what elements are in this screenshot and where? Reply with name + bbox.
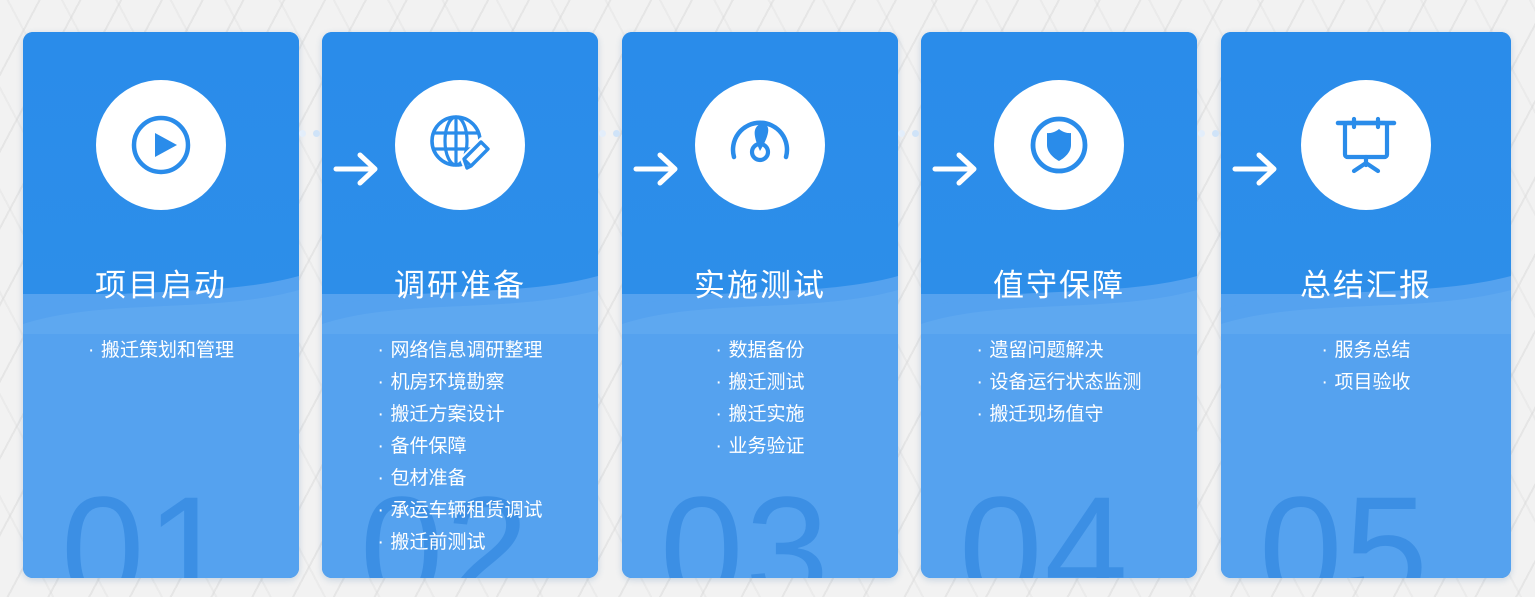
gauge-icon [695, 80, 825, 210]
arrow-right-icon [1229, 145, 1283, 193]
step-item-list: ·网络信息调研整理 ·机房环境勘察 ·搬迁方案设计 ·备件保障 ·包材准备 ·承… [322, 335, 598, 559]
step-item-list: ·服务总结 ·项目验收 [1221, 335, 1511, 399]
connector-dot [313, 130, 320, 137]
bullet-glyph: · [715, 335, 728, 367]
step-number-watermark: 03 [660, 474, 831, 578]
list-item-label: 网络信息调研整理 [390, 340, 542, 361]
list-item: ·搬迁实施 [715, 399, 804, 431]
list-item: ·项目验收 [1321, 367, 1410, 399]
connector-dot [1212, 130, 1219, 137]
step-title: 调研准备 [322, 260, 598, 305]
connector-dot [912, 130, 919, 137]
list-item: ·搬迁前测试 [377, 527, 542, 559]
connector-dots-1-2 [299, 130, 320, 137]
bullet-glyph: · [1321, 367, 1334, 399]
list-item-label: 搬迁测试 [728, 372, 804, 393]
arrow-right-icon [330, 145, 384, 193]
process-step-card-4[interactable]: 04 值守保障 ·遗留问题解决 ·设备运行状态监测 ·搬迁现场值守 [921, 32, 1197, 578]
process-step-card-1[interactable]: 01 项目启动 ·搬迁策划和管理 [23, 32, 299, 578]
bullet-glyph: · [377, 399, 390, 431]
list-item-label: 项目验收 [1334, 372, 1410, 393]
connector-dot [299, 130, 306, 137]
list-item-label: 遗留问题解决 [989, 340, 1103, 361]
connector-dot [613, 130, 620, 137]
step-title: 值守保障 [921, 260, 1197, 305]
bullet-glyph: · [377, 367, 390, 399]
list-item-label: 搬迁前测试 [390, 532, 485, 553]
connector-dot [898, 130, 905, 137]
bullet-glyph: · [715, 431, 728, 463]
list-item: ·搬迁方案设计 [377, 399, 542, 431]
step-title: 总结汇报 [1221, 260, 1511, 305]
list-item-label: 设备运行状态监测 [989, 372, 1141, 393]
bullet-glyph: · [377, 431, 390, 463]
step-item-list: ·搬迁策划和管理 [23, 335, 299, 367]
step-number-watermark: 04 [959, 474, 1130, 578]
connector-dots-3-4 [898, 130, 919, 137]
list-item: ·搬迁测试 [715, 367, 804, 399]
play-button-icon [96, 80, 226, 210]
step-item-list: ·数据备份 ·搬迁测试 ·搬迁实施 ·业务验证 [622, 335, 898, 463]
list-item: ·网络信息调研整理 [377, 335, 542, 367]
list-item-label: 搬迁方案设计 [390, 404, 504, 425]
list-item: ·业务验证 [715, 431, 804, 463]
list-item: ·服务总结 [1321, 335, 1410, 367]
process-step-card-3[interactable]: 03 实施测试 ·数据备份 ·搬迁测试 ·搬迁实施 ·业务验证 [622, 32, 898, 578]
list-item-label: 搬迁现场值守 [989, 404, 1103, 425]
list-item-label: 服务总结 [1334, 340, 1410, 361]
bullet-glyph: · [377, 335, 390, 367]
list-item: ·备件保障 [377, 431, 542, 463]
bullet-glyph: · [715, 399, 728, 431]
arrow-right-icon [929, 145, 983, 193]
list-item: ·遗留问题解决 [976, 335, 1141, 367]
shield-icon [994, 80, 1124, 210]
bullet-glyph: · [976, 399, 989, 431]
list-item-label: 机房环境勘察 [390, 372, 504, 393]
connector-dot [599, 130, 606, 137]
list-item-label: 搬迁实施 [728, 404, 804, 425]
bullet-glyph: · [88, 335, 101, 367]
list-item-label: 搬迁策划和管理 [101, 340, 234, 361]
bullet-glyph: · [715, 367, 728, 399]
process-flow-diagram: 01 项目启动 ·搬迁策划和管理 02 [0, 0, 1535, 597]
list-item: ·机房环境勘察 [377, 367, 542, 399]
process-step-card-5[interactable]: 05 总结汇报 ·服务总结 ·项目验收 [1221, 32, 1511, 578]
list-item-label: 承运车辆租赁调试 [390, 500, 542, 521]
list-item: ·设备运行状态监测 [976, 367, 1141, 399]
list-item: ·搬迁现场值守 [976, 399, 1141, 431]
connector-dots-2-3 [599, 130, 620, 137]
list-item: ·包材准备 [377, 463, 542, 495]
step-number-watermark: 05 [1259, 474, 1430, 578]
list-item: ·承运车辆租赁调试 [377, 495, 542, 527]
arrow-right-icon [630, 145, 684, 193]
list-item-label: 业务验证 [728, 436, 804, 457]
connector-dot [1198, 130, 1205, 137]
list-item: ·数据备份 [715, 335, 804, 367]
step-item-list: ·遗留问题解决 ·设备运行状态监测 ·搬迁现场值守 [921, 335, 1197, 431]
globe-pencil-icon [395, 80, 525, 210]
list-item-label: 备件保障 [390, 436, 466, 457]
process-step-card-2[interactable]: 02 调研准备 ·网络信息调研整理 ·机房环境勘察 ·搬迁方案设计 [322, 32, 598, 578]
bullet-glyph: · [377, 495, 390, 527]
list-item: ·搬迁策划和管理 [88, 335, 234, 367]
bullet-glyph: · [976, 335, 989, 367]
step-number-watermark: 01 [61, 474, 232, 578]
bullet-glyph: · [976, 367, 989, 399]
bullet-glyph: · [377, 463, 390, 495]
connector-dots-4-5 [1198, 130, 1219, 137]
step-title: 实施测试 [622, 260, 898, 305]
step-title: 项目启动 [23, 260, 299, 305]
list-item-label: 数据备份 [728, 340, 804, 361]
presentation-board-icon [1301, 80, 1431, 210]
bullet-glyph: · [377, 527, 390, 559]
list-item-label: 包材准备 [390, 468, 466, 489]
bullet-glyph: · [1321, 335, 1334, 367]
